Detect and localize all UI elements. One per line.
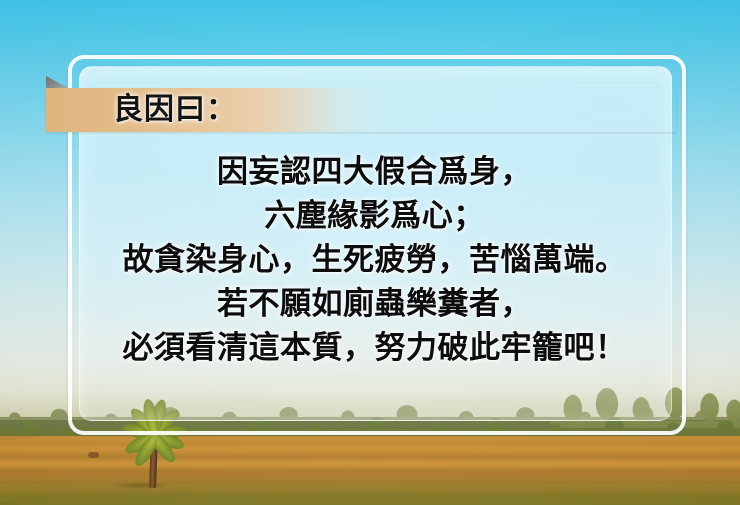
ribbon-fold-corner [46, 76, 68, 88]
quote-attribution-label: 良因曰： [113, 92, 237, 128]
quote-line: 若不願如廁蟲樂糞者， [79, 282, 670, 326]
palm-shadow [112, 482, 170, 489]
field-foreground-grass [0, 471, 740, 505]
quote-card-image: 良因曰： 因妄認四大假合爲身， 六塵緣影爲心； 故貪染身心，生死疲勞，苦惱萬端。… [0, 0, 740, 505]
quote-line: 六塵緣影爲心； [79, 194, 670, 238]
quote-line: 因妄認四大假合爲身， [79, 150, 670, 194]
quote-line: 必須看清這本質，努力破此牢籠吧！ [79, 326, 670, 370]
quote-line: 故貪染身心，生死疲勞，苦惱萬端。 [79, 238, 670, 282]
grazing-animal [88, 452, 99, 458]
quote-body: 因妄認四大假合爲身， 六塵緣影爲心； 故貪染身心，生死疲勞，苦惱萬端。 若不願如… [79, 150, 670, 370]
